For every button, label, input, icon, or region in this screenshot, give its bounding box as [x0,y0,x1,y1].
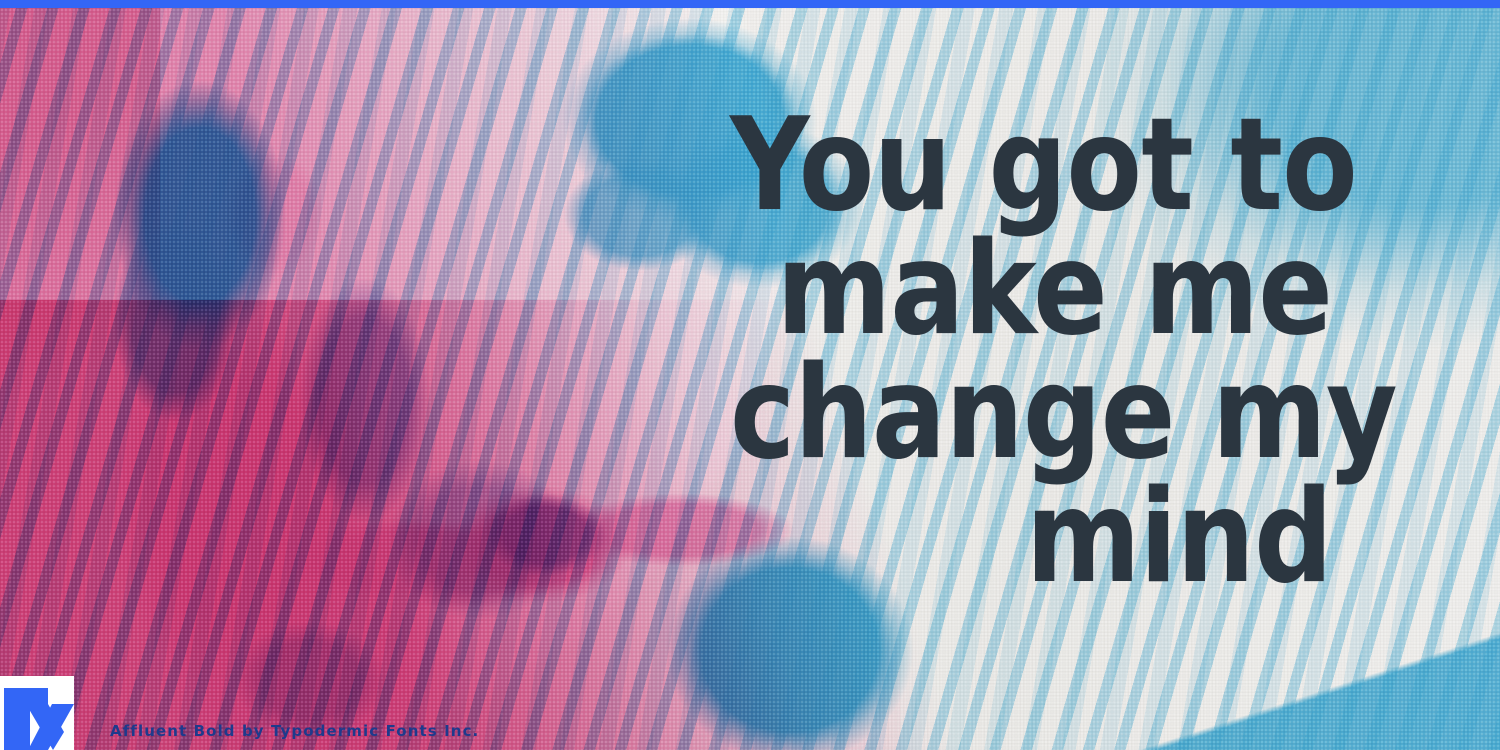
top-accent-bar [0,0,1500,8]
typodermic-ty-logo-icon[interactable] [4,680,74,750]
specimen-caption: Affluent Bold by Typodermic Fonts Inc. [110,722,479,740]
headline-line-2: make me [730,228,1332,352]
headline-line-4: mind [730,476,1332,600]
headline-line-1: You got to [730,104,1332,228]
duotone-overlap-shadow [150,280,770,750]
headline: You got to make me change my mind [730,104,1332,601]
headline-line-3: change my [730,352,1332,476]
font-specimen-poster: You got to make me change my mind Afflue… [0,0,1500,750]
